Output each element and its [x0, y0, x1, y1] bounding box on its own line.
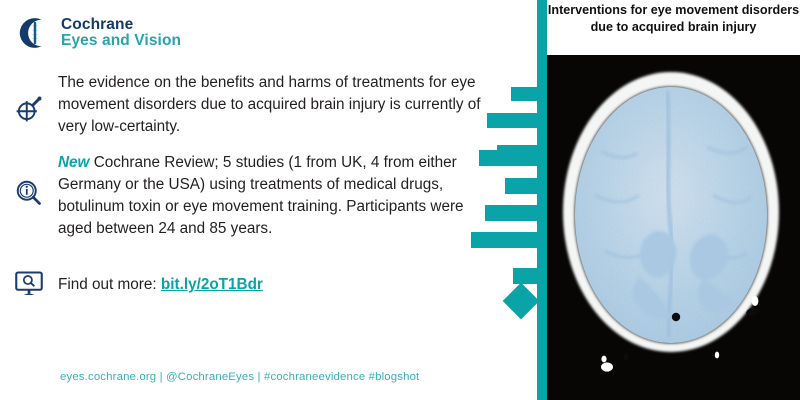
cochrane-logo-icon: [18, 16, 52, 50]
find-out-more-text: Find out more: bit.ly/2oT1Bdr: [58, 274, 263, 296]
new-badge: New: [58, 154, 89, 171]
panel-title: Interventions for eye movement disorders…: [547, 2, 800, 35]
decorative-diamond: [503, 283, 540, 320]
ct-scan-panel: [547, 55, 800, 400]
evidence-statement-block: The evidence on the benefits and harms o…: [14, 72, 488, 138]
find-out-more-link[interactable]: bit.ly/2oT1Bdr: [161, 276, 263, 293]
logo-name-line1: Cochrane: [61, 17, 181, 33]
decorative-bar: [511, 87, 537, 101]
footer-credits[interactable]: eyes.cochrane.org | @CochraneEyes | #coc…: [60, 371, 419, 383]
decorative-bar: [471, 232, 539, 248]
find-out-more-block[interactable]: Find out more: bit.ly/2oT1Bdr: [14, 268, 263, 302]
review-details-text: New Cochrane Review; 5 studies (1 from U…: [58, 152, 488, 240]
find-out-more-label: Find out more:: [58, 276, 161, 293]
monitor-search-icon: [14, 268, 48, 302]
review-details-body: Cochrane Review; 5 studies (1 from UK, 4…: [58, 154, 464, 237]
blogshot-canvas: Cochrane Eyes and Vision The evidence on…: [0, 0, 800, 400]
logo-name-line2: Eyes and Vision: [61, 33, 181, 49]
ct-brain-scan: [547, 55, 800, 400]
cochrane-logo: Cochrane Eyes and Vision: [18, 16, 181, 50]
target-magnifier-icon: [14, 94, 48, 128]
review-details-block: New Cochrane Review; 5 studies (1 from U…: [14, 152, 488, 240]
logo-wordmark: Cochrane Eyes and Vision: [61, 17, 181, 50]
info-magnifier-icon: [14, 178, 48, 212]
evidence-statement-text: The evidence on the benefits and harms o…: [58, 72, 488, 138]
decorative-vertical-rule: [537, 0, 547, 400]
decorative-bar: [479, 150, 539, 166]
